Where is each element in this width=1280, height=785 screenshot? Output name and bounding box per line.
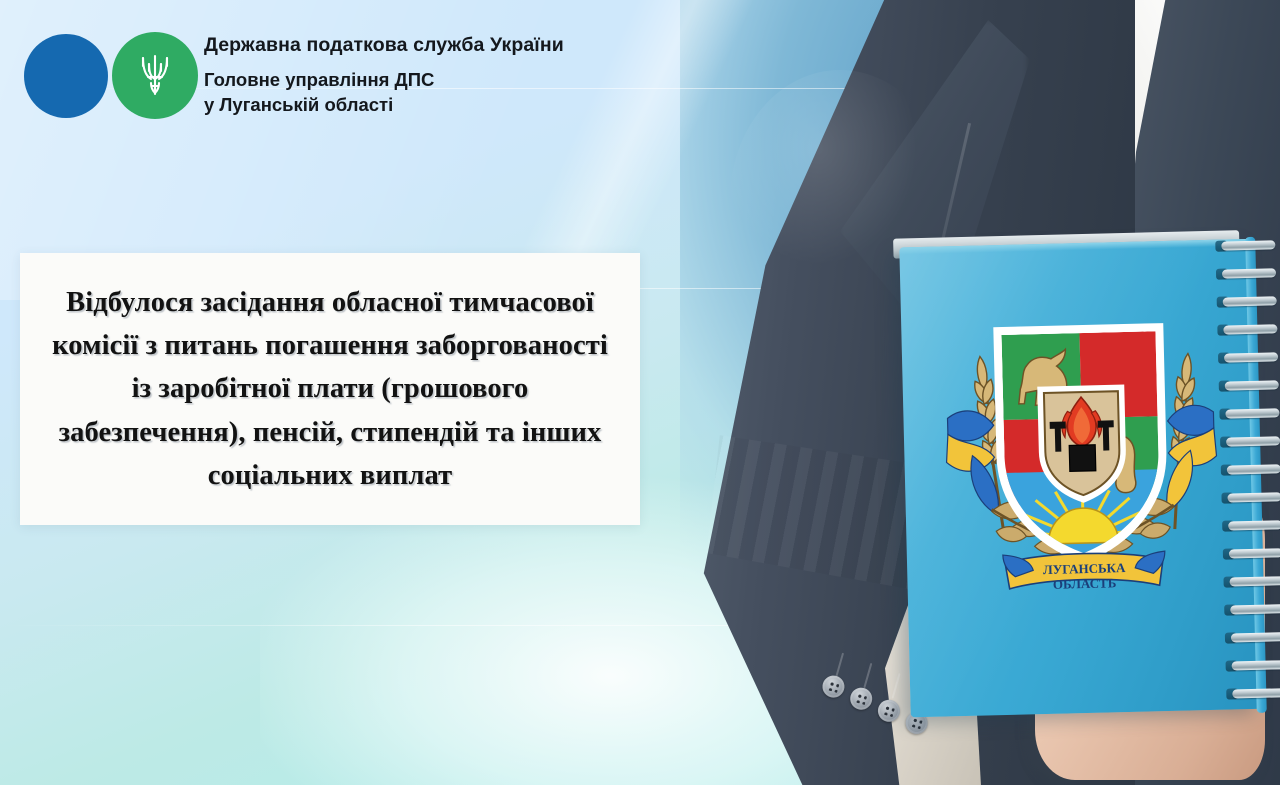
logo-text-block: Державна податкова служба України Головн… bbox=[204, 34, 684, 118]
sleeve-button bbox=[848, 685, 875, 712]
logo-title-line3: у Луганській області bbox=[204, 93, 684, 118]
banner-root: ЛУГАНСЬКА ОБЛАСТЬ bbox=[0, 0, 1280, 785]
headline-text: Відбулося засідання обласної тимчасової … bbox=[45, 281, 615, 498]
ukraine-trident-icon bbox=[139, 52, 171, 98]
luhansk-oblast-coat-of-arms: ЛУГАНСЬКА ОБЛАСТЬ bbox=[939, 300, 1224, 607]
sleeve-button bbox=[820, 673, 847, 700]
logo-title-line2: Головне управління ДПС bbox=[204, 68, 684, 93]
headline-card: Відбулося засідання обласної тимчасової … bbox=[20, 253, 640, 525]
blue-circle-icon bbox=[24, 34, 108, 118]
sleeve-button bbox=[875, 697, 902, 724]
logo-title-line1: Державна податкова служба України bbox=[204, 34, 684, 56]
coa-ribbon-line2: ОБЛАСТЬ bbox=[1053, 575, 1117, 592]
spiral-binding-icon bbox=[1221, 234, 1280, 715]
notebook: ЛУГАНСЬКА ОБЛАСТЬ bbox=[899, 239, 1272, 718]
organization-logo: Державна податкова служба України Головн… bbox=[24, 32, 664, 132]
